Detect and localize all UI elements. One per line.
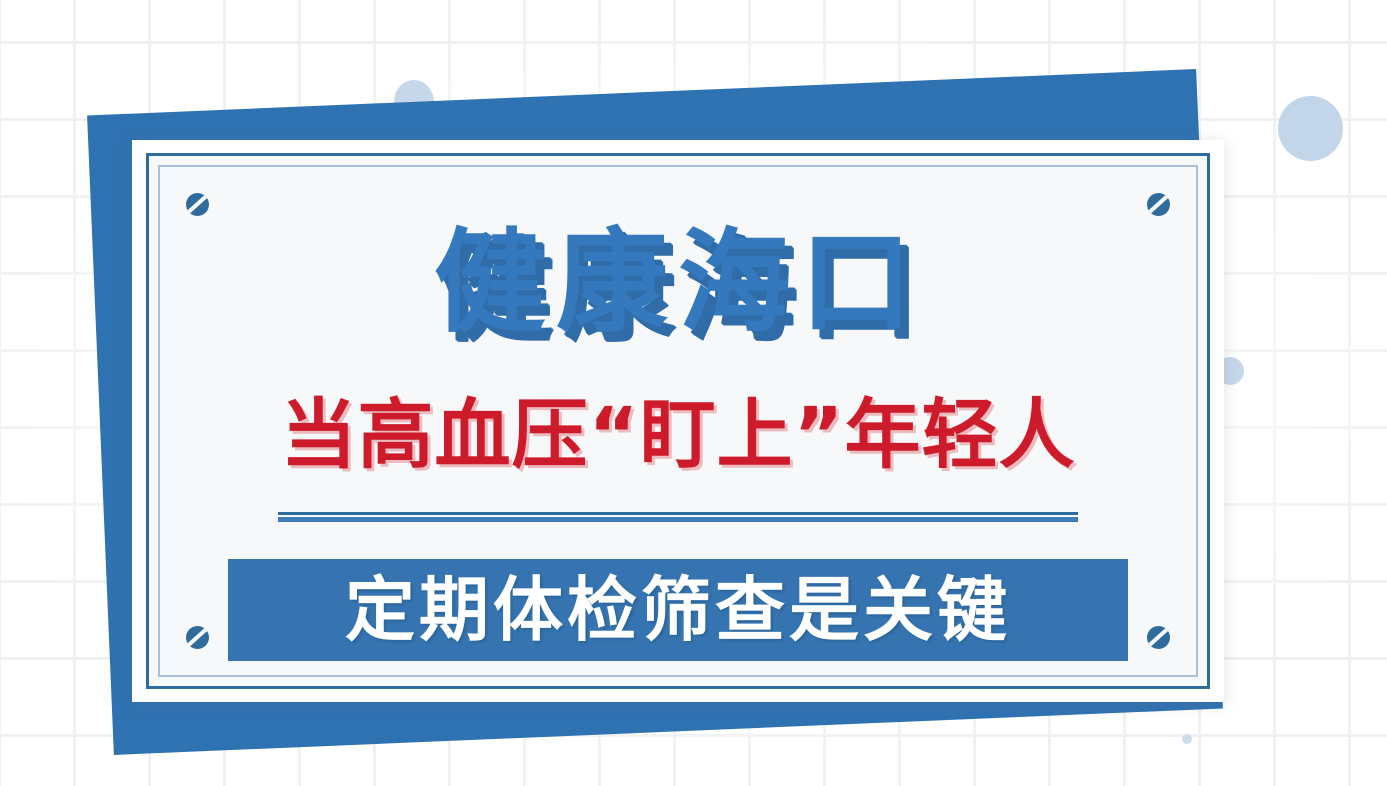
divider-line-thick [278,517,1078,522]
brand-title: 健康海口 [160,227,1196,339]
banner-text: 定期体检筛查是关键 [345,575,1011,645]
headline-text: 当高血压“盯上”年轻人 [160,397,1196,473]
banner-bar: 定期体检筛查是关键 [228,559,1128,661]
poster-content: 健康海口 当高血压“盯上”年轻人 定期体检筛查是关键 [160,167,1196,675]
poster-canvas: 健康海口 当高血压“盯上”年轻人 定期体检筛查是关键 [0,0,1387,786]
decor-dot-bottom-right [1182,734,1192,744]
poster-card: 健康海口 当高血压“盯上”年轻人 定期体检筛查是关键 [132,140,1224,702]
card-frame-outer: 健康海口 当高血压“盯上”年轻人 定期体检筛查是关键 [146,153,1210,689]
divider-line-thin [278,512,1078,515]
card-frame-inner: 健康海口 当高血压“盯上”年轻人 定期体检筛查是关键 [158,165,1198,677]
decor-dot-top-right [1278,96,1343,161]
headline-divider [278,512,1078,521]
